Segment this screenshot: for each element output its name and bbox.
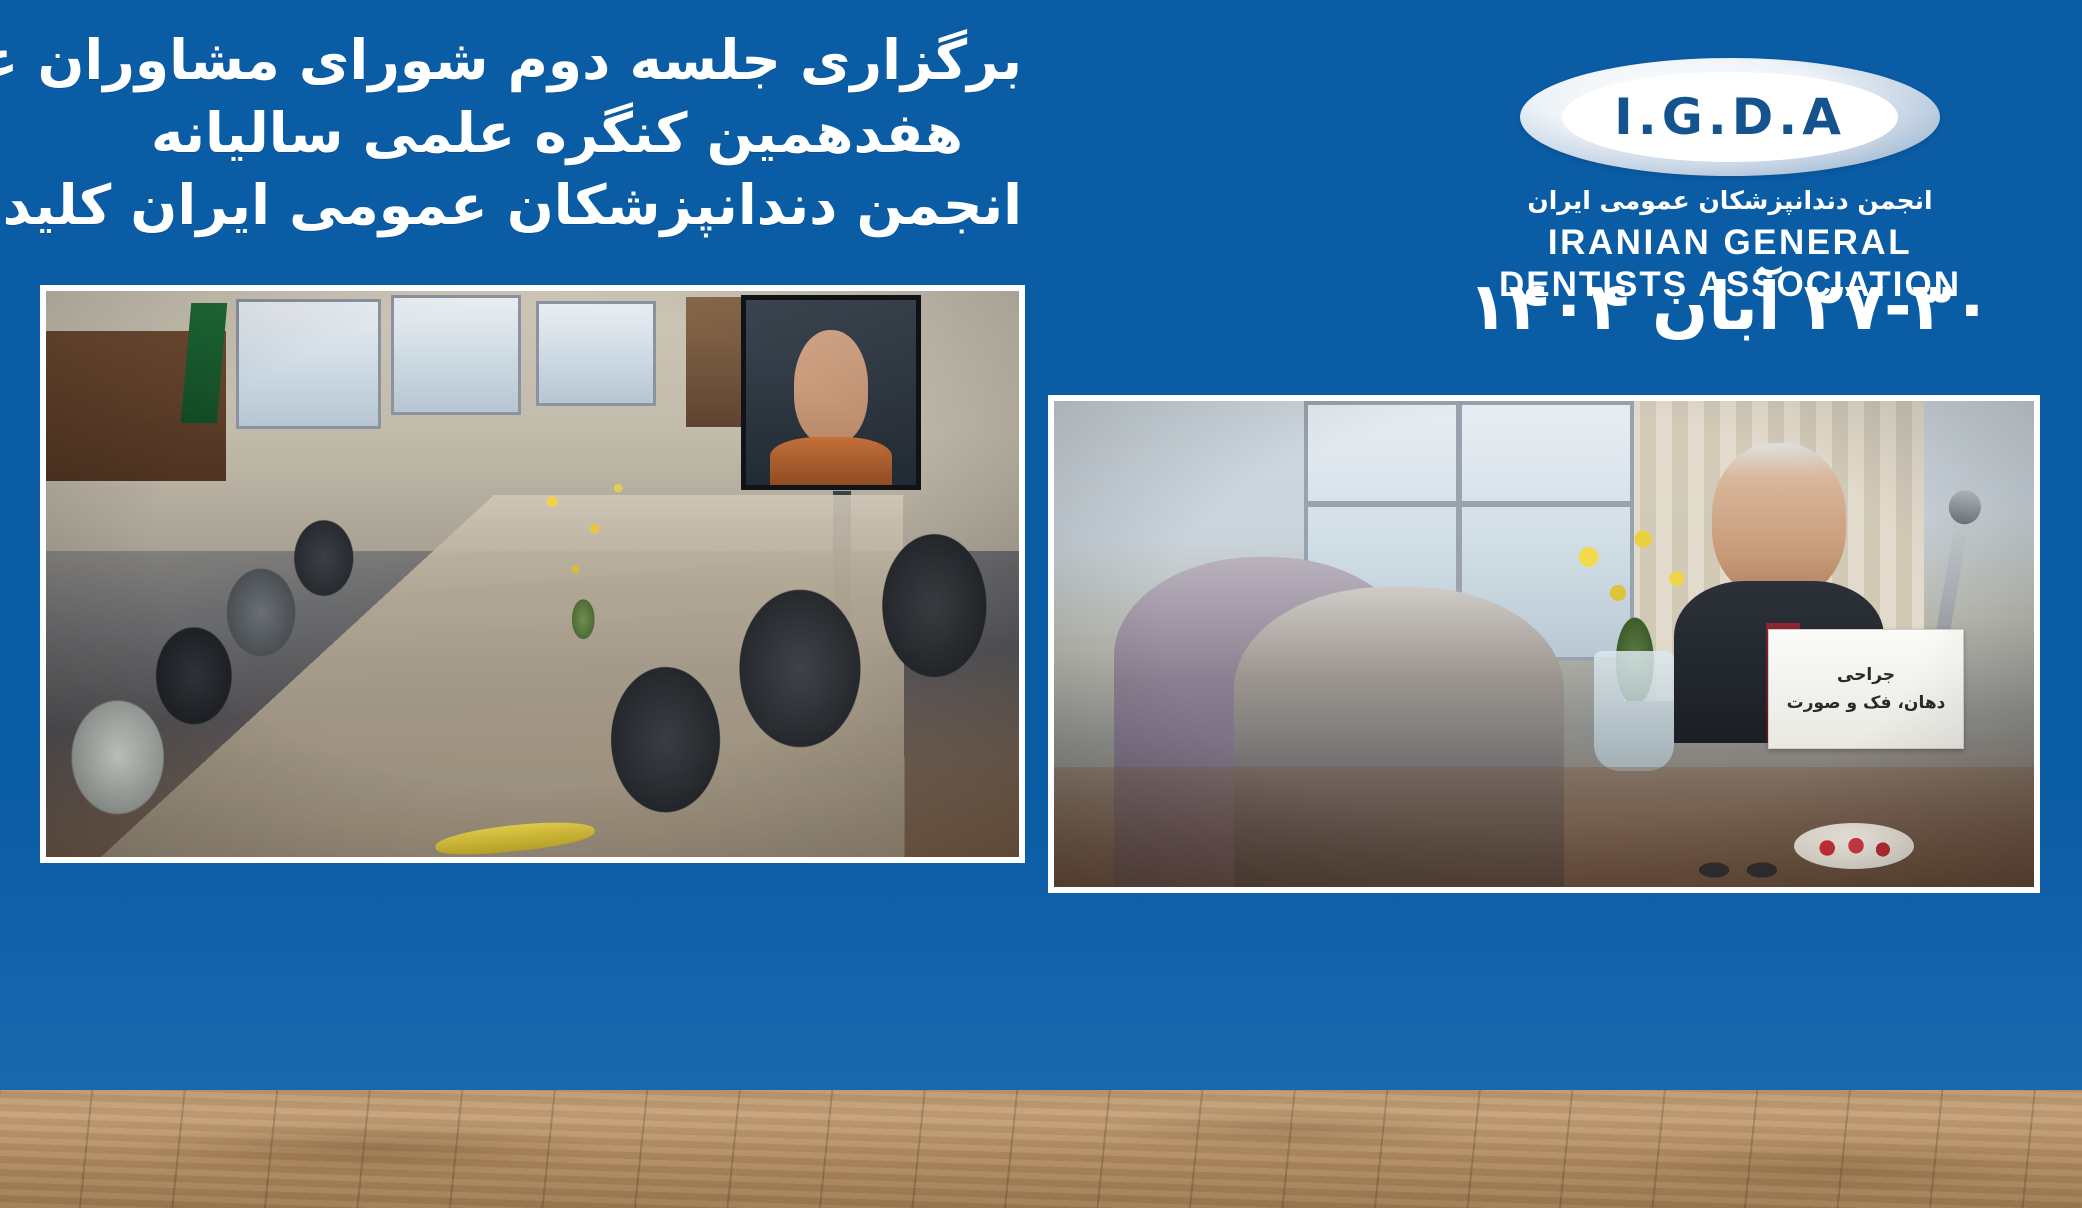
logo-acronym-text: I.G.D.A [1614,88,1846,146]
window-pane-2 [391,295,521,415]
event-date: ۲۷-۳۰ آبان ۱۴۰۴ [1430,268,2030,345]
glass-vase [1594,651,1674,771]
window-pane-3 [536,301,656,406]
speaker-photo: جراحی دهان، فک و صورت [1048,395,2040,893]
logo-ellipse-icon: I.G.D.A [1520,58,1940,176]
logo-persian-name: انجمن دندانپزشکان عمومی ایران [1430,186,2030,215]
empty-chairs-right [567,438,1015,857]
page-title: برگزاری جلسه دوم شورای مشاوران علمی هفده… [92,24,1022,242]
speaker-head [1712,443,1846,599]
screen-participant-face [794,330,869,445]
conference-meeting-photo [40,285,1025,863]
seated-attendees-left [46,404,494,857]
meeting-room-scene [46,291,1019,857]
tent-sign-line-2: دهان، فک و صورت [1787,693,1946,713]
headline-line-3: انجمن دندانپزشکان عمومی ایران کلید خورد [92,169,1022,242]
window-mullion-horizontal [1308,501,1630,507]
headline-line-1: برگزاری جلسه دوم شورای مشاوران علمی [92,24,1022,97]
tent-sign-line-1: جراحی [1837,665,1895,685]
eyeglasses [1692,859,1784,881]
table-tent-sign: جراحی دهان، فک و صورت [1768,629,1964,749]
logo-ellipse-inner: I.G.D.A [1562,72,1898,162]
wooden-floor-background [0,1078,2082,1208]
news-banner: برگزاری جلسه دوم شورای مشاوران علمی هفده… [0,0,2082,1208]
logo-english-line-1: IRANIAN GENERAL [1430,223,2030,263]
headline-line-2: هفدهمین کنگره علمی سالیانه [92,97,1022,170]
speaker-room-scene: جراحی دهان، فک و صورت [1054,401,2034,887]
strawberries [1808,833,1904,863]
